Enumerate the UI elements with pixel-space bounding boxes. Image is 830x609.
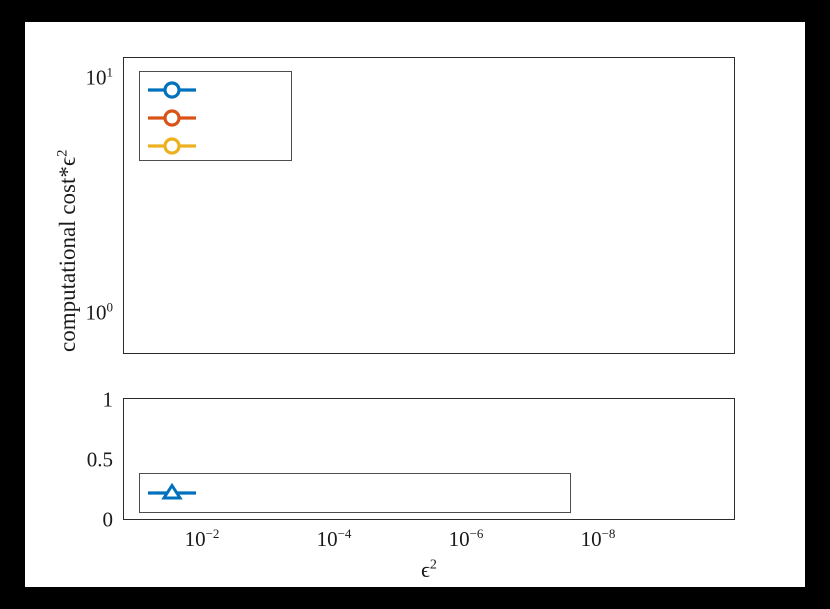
ytick-label-10e1: 101 [85,68,113,89]
cost-plot-legend[interactable] [139,71,292,161]
legend-item-ratio[interactable] [146,478,562,508]
ratio-plot-legend[interactable] [139,473,571,513]
ytick-label-10e0: 100 [85,303,113,324]
legend-marker-mlmc [146,78,198,102]
xtick-label-10e-2: 10−2 [185,529,220,550]
figure-canvas: 101 100 computational cost*ϵ2 [25,22,805,587]
xtick-label-10e-6: 10−6 [449,529,484,550]
ytick-label-0: 0 [103,510,114,531]
ytick-label-0p5: 0.5 [87,450,113,471]
legend-item-mc[interactable] [146,132,283,160]
xtick-label-10e-4: 10−4 [317,529,352,550]
ytick-label-1: 1 [103,390,114,411]
legend-item-mlmc[interactable] [146,76,283,104]
legend-marker-mc [146,134,198,158]
y-axis-title: computational cost*ϵ2 [55,149,81,352]
xtick-label-10e-8: 10−8 [581,529,616,550]
x-axis-title: ϵ2 [421,557,437,583]
screenshot-root: 101 100 computational cost*ϵ2 [0,0,830,609]
legend-marker-wmlmc [146,106,198,130]
legend-item-wmlmc[interactable] [146,104,283,132]
legend-marker-ratio [146,481,198,505]
